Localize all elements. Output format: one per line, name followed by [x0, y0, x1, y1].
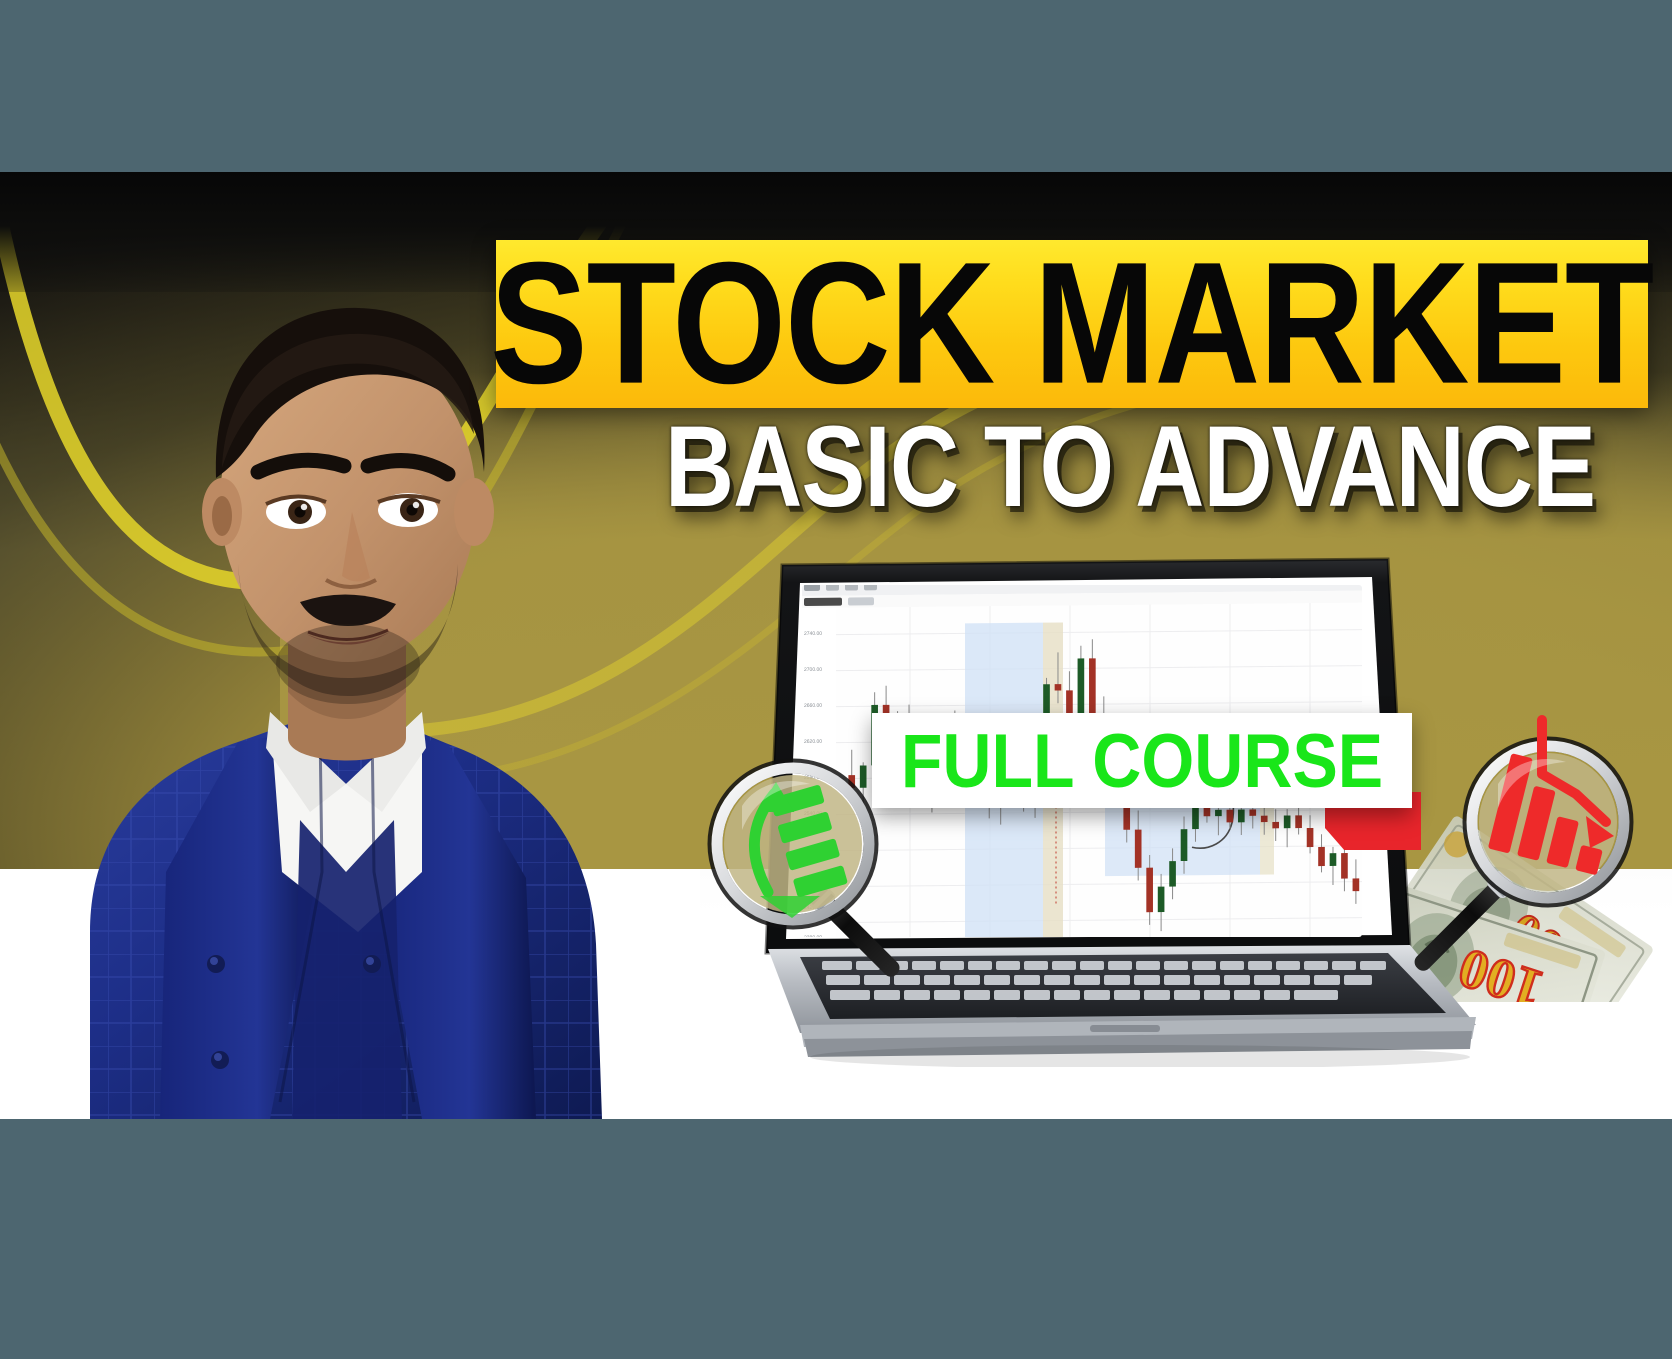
thumbnail-frame: 100 100	[0, 0, 1672, 1359]
page-title: STOCK MARKET	[484, 243, 1660, 406]
title-banner: STOCK MARKET	[496, 240, 1648, 408]
full-course-badge: FULL COURSE	[872, 713, 1412, 808]
magnifier-down-trend-icon	[1400, 702, 1660, 1002]
svg-text:2660.00: 2660.00	[804, 703, 822, 709]
svg-text:2740.00: 2740.00	[804, 631, 822, 637]
svg-text:2700.00: 2700.00	[804, 667, 822, 673]
subtitle-text: BASIC TO ADVANCE	[665, 410, 1595, 525]
magnifier-up-trend-icon	[660, 720, 930, 1020]
full-course-badge-label: FULL COURSE	[901, 722, 1383, 798]
subtitle: BASIC TO ADVANCE	[600, 412, 1660, 522]
thumbnail-canvas: 100 100	[0, 172, 1672, 1119]
